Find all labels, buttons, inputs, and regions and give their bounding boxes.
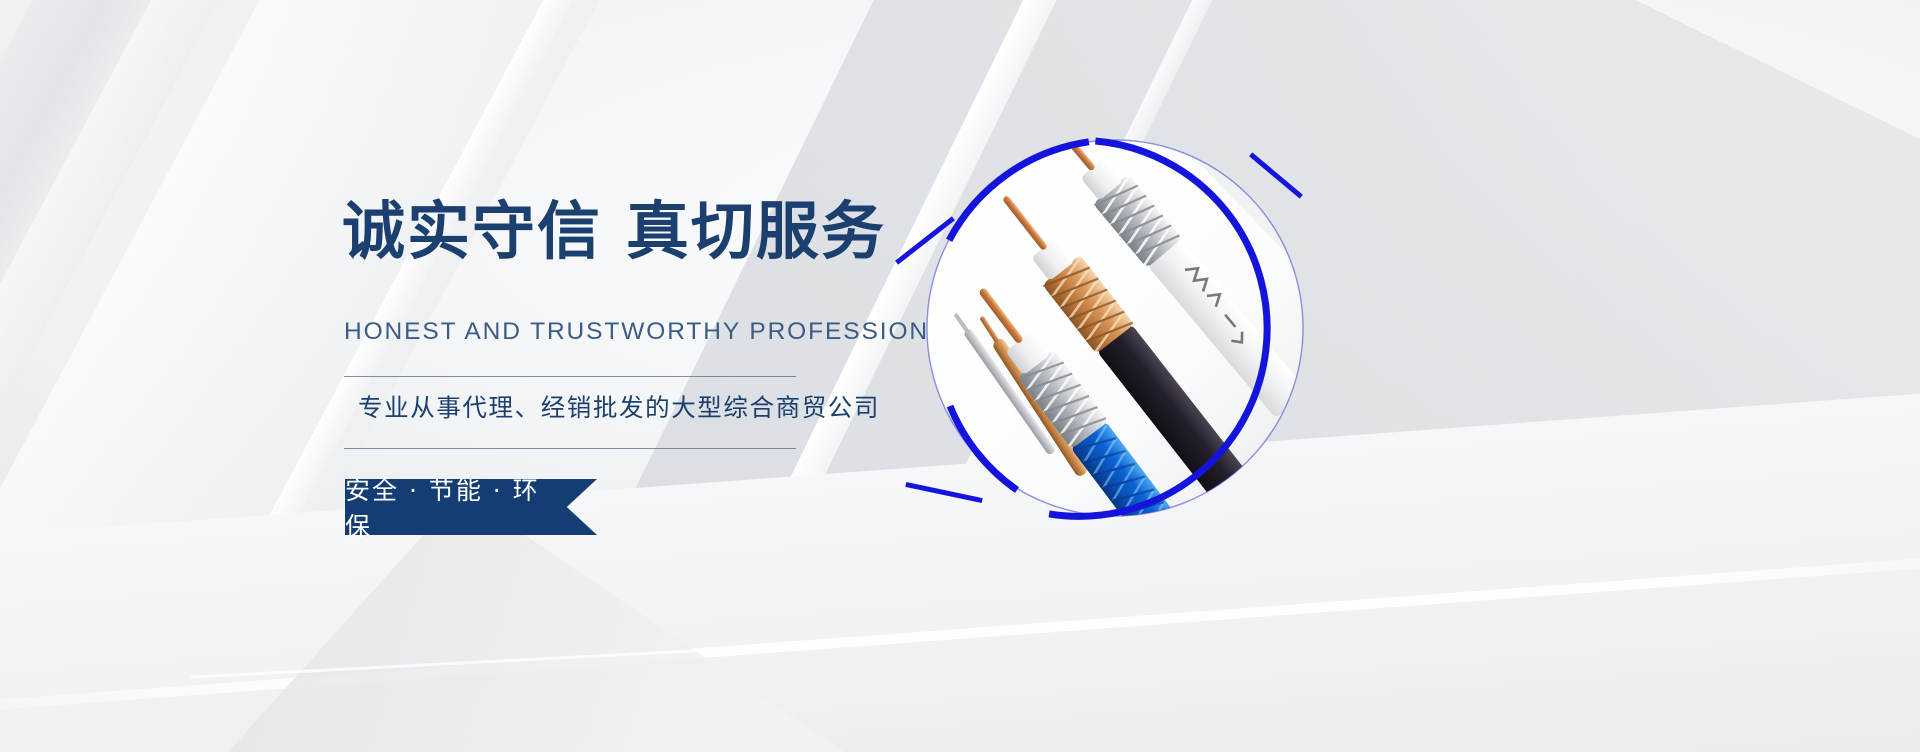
divider-top [344, 376, 796, 377]
divider-bottom [344, 448, 796, 449]
slogan-tag-label: 安全 · 节能 · 环保 [345, 479, 563, 535]
subtitle-chinese: 专业从事代理、经销批发的大型综合商贸公司 [358, 396, 880, 421]
blue-circle-ring [905, 118, 1325, 538]
headline: 诚实守信 真切服务 [342, 200, 886, 263]
product-media [905, 118, 1325, 538]
hero-banner: 诚实守信 真切服务 HONEST AND TRUSTWORTHY PROFESS… [0, 0, 1920, 752]
